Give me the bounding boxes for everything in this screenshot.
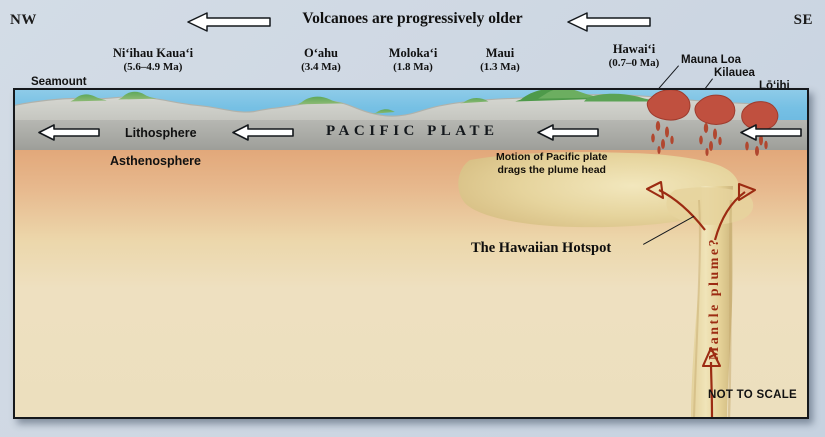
- label-asthenosphere: Asthenosphere: [110, 154, 201, 168]
- plate-motion-arrow-3-icon: [536, 123, 600, 142]
- annotation-plate-motion-line1: Motion of Pacific plate: [496, 151, 607, 163]
- island-label-niihau-kauai: Ni‘ihau Kaua‘i (5.6–4.9 Ma): [78, 46, 228, 74]
- annotation-plate-motion-line2: drags the plume head: [497, 164, 606, 176]
- headline-volcanoes-older: Volcanoes are progressively older: [0, 10, 825, 28]
- island-label-hawaii: Hawai‘i (0.7–0 Ma): [588, 42, 680, 70]
- cross-section-frame: Lithosphere Asthenosphere PACIFIC PLATE …: [13, 88, 809, 419]
- older-direction-arrow-left-icon: [185, 11, 273, 33]
- plate-motion-arrow-1-icon: [37, 123, 101, 142]
- callout-seamount: Seamount: [31, 76, 87, 88]
- annotation-plate-motion: Motion of Pacific plate drags the plume …: [496, 151, 607, 177]
- callout-kilauea: Kilauea: [714, 67, 755, 79]
- diagram-canvas: NW SE Volcanoes are progressively older …: [0, 0, 825, 437]
- plate-motion-arrow-2-icon: [231, 123, 295, 142]
- label-pacific-plate: PACIFIC PLATE: [326, 123, 499, 140]
- annotation-hawaiian-hotspot: The Hawaiian Hotspot: [471, 240, 611, 257]
- island-label-oahu: O‘ahu (3.4 Ma): [281, 46, 361, 74]
- island-label-molokai: Moloka‘i (1.8 Ma): [367, 46, 459, 74]
- older-direction-arrow-right-icon: [565, 11, 653, 33]
- annotation-not-to-scale: NOT TO SCALE: [708, 389, 797, 401]
- callout-mauna-loa: Mauna Loa: [681, 54, 741, 66]
- label-lithosphere: Lithosphere: [125, 126, 197, 140]
- island-label-maui: Maui (1.3 Ma): [461, 46, 539, 74]
- plate-motion-arrow-4-icon: [739, 123, 803, 142]
- annotation-mantle-plume: Mantle plume?: [707, 237, 723, 360]
